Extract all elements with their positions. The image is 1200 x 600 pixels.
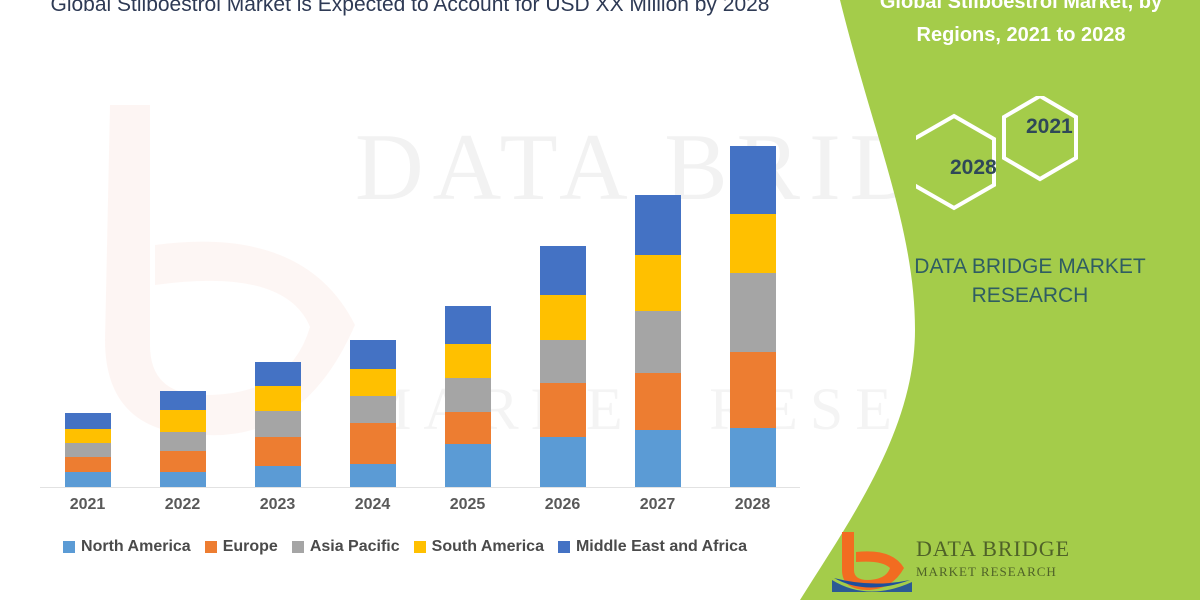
bar-segment xyxy=(160,432,206,451)
bar-segment xyxy=(635,373,681,430)
bar-segment xyxy=(255,411,301,436)
bar-segment xyxy=(730,428,776,488)
bar-segment xyxy=(65,457,111,472)
bar-segment xyxy=(445,412,491,444)
bar-segment xyxy=(65,472,111,488)
bar-2023[interactable] xyxy=(255,362,301,488)
bar-2028[interactable] xyxy=(730,146,776,488)
bar-segment xyxy=(540,383,586,436)
bar-segment xyxy=(635,255,681,310)
bar-segment xyxy=(540,437,586,488)
x-label-2025: 2025 xyxy=(423,496,513,514)
brand-name: DATA BRIDGE MARKET RESEARCH xyxy=(880,252,1180,310)
bar-2027[interactable] xyxy=(635,195,681,488)
bar-2021[interactable] xyxy=(65,413,111,488)
bar-segment xyxy=(160,410,206,431)
legend-label: Europe xyxy=(223,538,278,556)
bar-segment xyxy=(445,378,491,412)
brand-line-1: DATA BRIDGE MARKET xyxy=(880,252,1180,281)
bar-segment xyxy=(730,214,776,273)
x-label-2024: 2024 xyxy=(328,496,418,514)
bar-2025[interactable] xyxy=(445,306,491,488)
bar-segment xyxy=(350,396,396,423)
bar-2024[interactable] xyxy=(350,340,396,488)
logo-title: DATA BRIDGE xyxy=(916,536,1070,562)
panel-title: Global Stilboestrol Market, by Regions, … xyxy=(856,0,1186,52)
legend-swatch-icon xyxy=(63,541,75,553)
bar-segment xyxy=(255,437,301,466)
legend-swatch-icon xyxy=(414,541,426,553)
data-bridge-logo: DATA BRIDGE MARKET RESEARCH xyxy=(832,530,1162,600)
legend-label: South America xyxy=(432,538,544,556)
bar-segment xyxy=(445,306,491,345)
hexagon-icons xyxy=(916,96,1116,231)
hexagon-label-2028: 2028 xyxy=(950,156,997,180)
legend-label: Middle East and Africa xyxy=(576,538,747,556)
x-label-2023: 2023 xyxy=(233,496,323,514)
bar-segment xyxy=(730,146,776,214)
legend-item-middle-east-and-africa[interactable]: Middle East and Africa xyxy=(558,538,747,556)
bar-segment xyxy=(350,340,396,369)
bar-segment xyxy=(730,352,776,428)
bar-segment xyxy=(730,273,776,353)
legend-label: North America xyxy=(81,538,191,556)
legend-item-europe[interactable]: Europe xyxy=(205,538,278,556)
legend-swatch-icon xyxy=(205,541,217,553)
x-label-2021: 2021 xyxy=(43,496,133,514)
plot-area xyxy=(40,100,800,488)
legend-item-south-america[interactable]: South America xyxy=(414,538,544,556)
bar-segment xyxy=(65,429,111,444)
chart-legend: North AmericaEuropeAsia PacificSouth Ame… xyxy=(0,538,810,556)
bar-segment xyxy=(65,413,111,429)
x-axis-line xyxy=(40,487,800,488)
x-label-2026: 2026 xyxy=(518,496,608,514)
data-bridge-logo-icon xyxy=(832,530,912,592)
bar-segment xyxy=(540,246,586,295)
brand-line-2: RESEARCH xyxy=(880,281,1180,310)
bar-segment xyxy=(65,443,111,457)
bar-segment xyxy=(160,391,206,410)
legend-swatch-icon xyxy=(292,541,304,553)
bar-segment xyxy=(540,340,586,384)
legend-label: Asia Pacific xyxy=(310,538,400,556)
bar-segment xyxy=(350,423,396,464)
bar-segment xyxy=(160,451,206,471)
bar-segment xyxy=(255,386,301,411)
bar-segment xyxy=(255,362,301,386)
x-axis-labels: 20212022202320242025202620272028 xyxy=(40,496,800,526)
legend-item-north-america[interactable]: North America xyxy=(63,538,191,556)
x-label-2027: 2027 xyxy=(613,496,703,514)
bar-2022[interactable] xyxy=(160,391,206,488)
hexagon-group: 2028 2021 xyxy=(916,96,1116,231)
chart-title: Global Stilboestrol Market is Expected t… xyxy=(30,0,790,22)
bar-segment xyxy=(635,311,681,373)
bar-segment xyxy=(635,430,681,488)
poster-canvas: DATA BRIDGE MARKET RESEARCH Global Stilb… xyxy=(0,0,1200,600)
stacked-bar-chart: Global Stilboestrol Market is Expected t… xyxy=(0,0,820,600)
hexagon-label-2021: 2021 xyxy=(1026,115,1073,139)
legend-item-asia-pacific[interactable]: Asia Pacific xyxy=(292,538,400,556)
x-label-2028: 2028 xyxy=(708,496,798,514)
bar-segment xyxy=(540,295,586,340)
bar-segment xyxy=(350,369,396,396)
bar-segment xyxy=(160,472,206,488)
bar-segment xyxy=(255,466,301,488)
bar-segment xyxy=(445,444,491,488)
bar-2026[interactable] xyxy=(540,246,586,488)
x-label-2022: 2022 xyxy=(138,496,228,514)
bar-segment xyxy=(635,195,681,255)
bar-segment xyxy=(445,344,491,378)
bar-segment xyxy=(350,464,396,488)
legend-swatch-icon xyxy=(558,541,570,553)
logo-subtitle: MARKET RESEARCH xyxy=(916,564,1057,580)
